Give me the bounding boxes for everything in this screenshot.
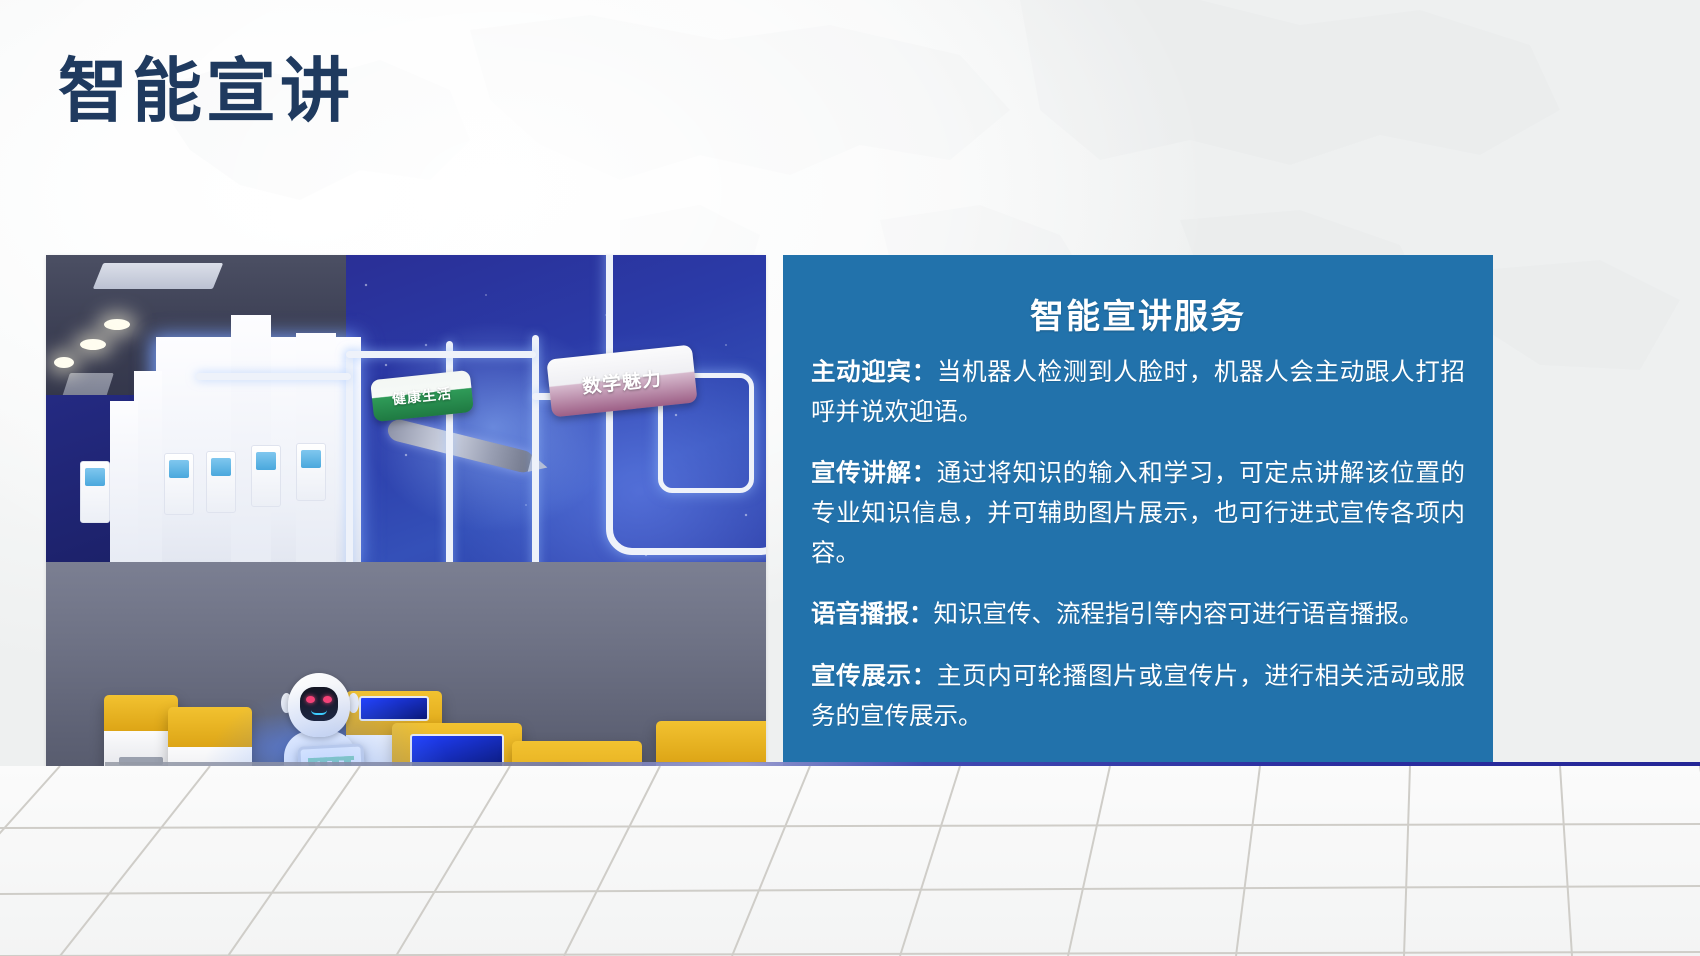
wall-info-card — [206, 451, 236, 513]
display-wall-step — [231, 315, 271, 567]
feature-text: 知识宣传、流程指引等内容可进行语音播报。 — [934, 599, 1424, 628]
feature-item-explanation: 宣传讲解：通过将知识的输入和学习，可定点讲解该位置的专业知识信息，并可辅助图片展… — [811, 453, 1465, 572]
service-description-panel: 智能宣讲服务 主动迎宾：当机器人检测到人脸时，机器人会主动跟人打招呼并说欢迎语。… — [783, 255, 1493, 792]
ceiling-light-panel — [93, 263, 224, 289]
exhibition-robot-photo: 健康生活 数学魅力 — [46, 255, 766, 792]
sign-label: 健康生活 — [391, 383, 453, 409]
feature-label: 主动迎宾： — [811, 357, 937, 386]
sign-label: 数学魅力 — [581, 363, 663, 398]
ceiling-spotlight — [54, 357, 74, 368]
display-wall-step — [134, 371, 162, 567]
feature-label: 宣传讲解： — [811, 458, 937, 487]
wall-info-card — [164, 453, 194, 515]
wall-info-card — [251, 445, 281, 507]
rail-bar — [346, 351, 536, 358]
display-wall-step — [110, 401, 138, 567]
wall-info-card — [296, 443, 326, 501]
panel-heading: 智能宣讲服务 — [811, 289, 1465, 338]
feature-item-voice-broadcast: 语音播报：知识宣传、流程指引等内容可进行语音播报。 — [811, 594, 1465, 634]
rail-post — [346, 351, 353, 581]
feature-item-promotion-display: 宣传展示：主页内可轮播图片或宣传片，进行相关活动或服务的宣传展示。 — [811, 656, 1465, 735]
ceiling-vent — [62, 373, 114, 397]
feature-label: 语音播报： — [811, 599, 934, 628]
photo-scene: 健康生活 数学魅力 — [46, 255, 766, 792]
ceiling-spotlight — [80, 339, 106, 350]
feature-item-greeting: 主动迎宾：当机器人检测到人脸时，机器人会主动跟人打招呼并说欢迎语。 — [811, 352, 1465, 431]
perspective-floor — [0, 766, 1700, 956]
page-title: 智能宣讲 — [58, 52, 354, 130]
wall-info-card — [80, 461, 110, 523]
ceiling-spotlight — [104, 319, 130, 330]
rail-bar — [196, 373, 351, 380]
rail-post — [532, 335, 539, 585]
feature-label: 宣传展示： — [811, 661, 937, 690]
slide-canvas: 智能宣讲 — [0, 0, 1700, 956]
